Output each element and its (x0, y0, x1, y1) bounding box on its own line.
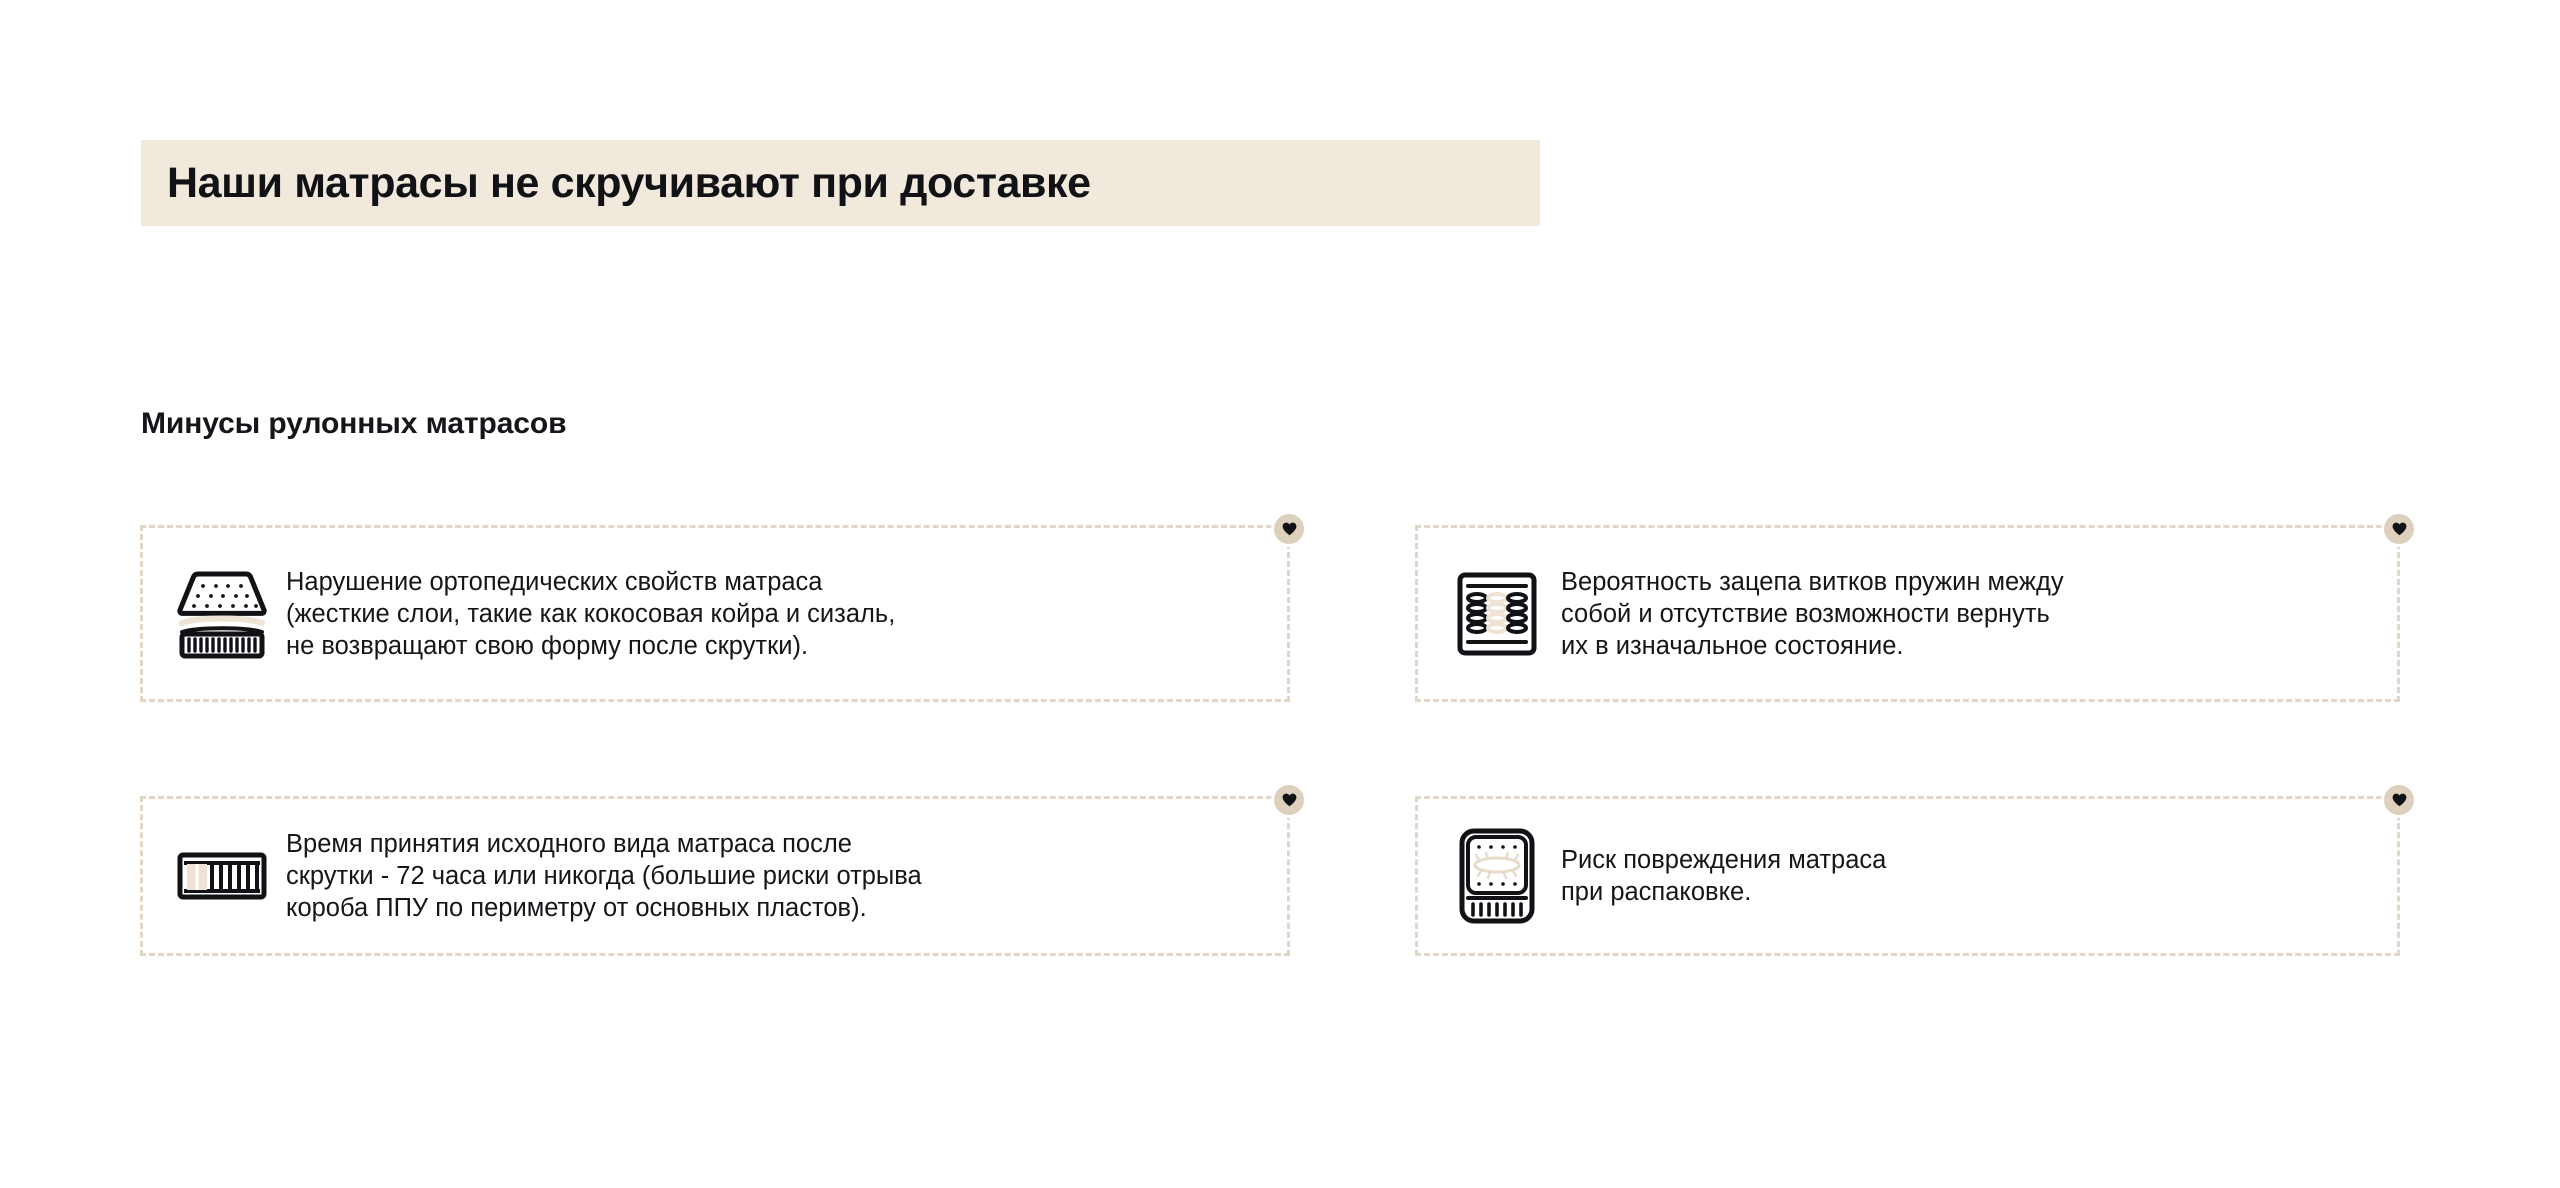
mattress-torn-icon (1445, 826, 1549, 926)
mattress-springs-icon (1445, 569, 1549, 659)
card-text: Время принятия исходного вида матраса по… (286, 828, 922, 924)
favorite-badge[interactable] (1271, 511, 1307, 547)
favorite-badge[interactable] (2381, 782, 2417, 818)
mattress-rolled-icon (170, 846, 274, 906)
card-mattress-rolled[interactable]: Время принятия исходного вида матраса по… (140, 796, 1290, 956)
card-text: Нарушение ортопедических свойств матраса… (286, 566, 895, 662)
favorite-badge[interactable] (1271, 782, 1307, 818)
card-mattress-layers[interactable]: Нарушение ортопедических свойств матраса… (140, 525, 1290, 702)
mattress-layers-icon (170, 566, 274, 662)
heart-icon (1282, 793, 1297, 807)
heart-icon (2392, 522, 2407, 536)
heart-icon (2392, 793, 2407, 807)
card-text: Вероятность зацепа витков пружин между с… (1561, 566, 2064, 662)
heart-icon (1282, 522, 1297, 536)
card-text: Риск повреждения матраса при распаковке. (1561, 844, 1886, 908)
card-mattress-torn[interactable]: Риск повреждения матраса при распаковке. (1415, 796, 2400, 956)
card-mattress-springs[interactable]: Вероятность зацепа витков пружин между с… (1415, 525, 2400, 702)
cards-grid: Нарушение ортопедических свойств матраса… (0, 0, 2560, 1188)
favorite-badge[interactable] (2381, 511, 2417, 547)
